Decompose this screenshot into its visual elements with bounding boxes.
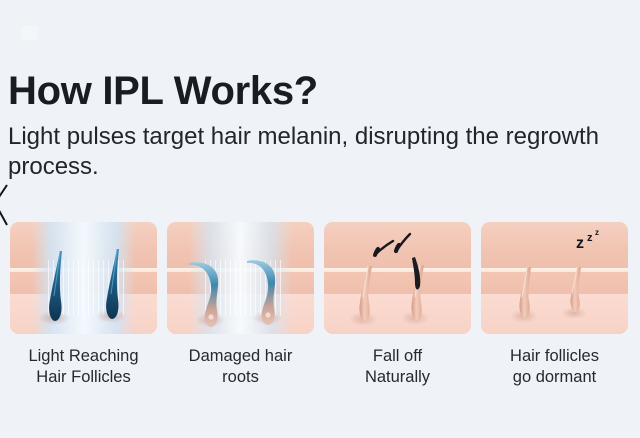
page-title: How IPL Works?: [8, 68, 318, 114]
step-light-reaching: Light Reaching Hair Follicles: [10, 222, 157, 388]
edge-arrow-artifact: [0, 183, 16, 227]
caption-line-1: Hair follicles: [510, 347, 599, 365]
page-subtitle: Light pulses target hair melanin, disrup…: [8, 122, 624, 182]
caption-line-2: roots: [167, 367, 314, 388]
caption-line-2: Naturally: [324, 367, 471, 388]
caption-line-2: go dormant: [481, 367, 628, 388]
step-go-dormant: z z z Hair follicles go dormant: [481, 222, 628, 388]
step-fall-off: Fall off Naturally: [324, 222, 471, 388]
caption-line-1: Fall off: [373, 347, 422, 365]
caption-line-1: Light Reaching: [28, 347, 138, 365]
illustration-panel-go-dormant: z z z: [481, 222, 628, 334]
caption-line-1: Damaged hair: [189, 347, 293, 365]
step-caption: Hair follicles go dormant: [481, 346, 628, 388]
hair-follicles-intact: [10, 222, 157, 334]
ipl-steps-row: Light Reaching Hair Follicles: [10, 222, 622, 388]
step-caption: Light Reaching Hair Follicles: [10, 346, 157, 388]
step-caption: Fall off Naturally: [324, 346, 471, 388]
sleep-z-small: z: [595, 228, 599, 237]
detached-hairs-and-empty-follicles: [324, 222, 471, 334]
step-caption: Damaged hair roots: [167, 346, 314, 388]
illustration-panel-damaged-roots: [167, 222, 314, 334]
caption-line-2: Hair Follicles: [10, 367, 157, 388]
hair-follicles-damaged: [167, 222, 314, 334]
dormant-follicles: z z z: [481, 222, 628, 334]
sleep-z-medium: z: [587, 232, 593, 244]
step-damaged-roots: Damaged hair roots: [167, 222, 314, 388]
illustration-panel-fall-off: [324, 222, 471, 334]
sleep-z-large: z: [576, 235, 584, 252]
background-smudge: [22, 26, 38, 40]
illustration-panel-light-reaching: [10, 222, 157, 334]
